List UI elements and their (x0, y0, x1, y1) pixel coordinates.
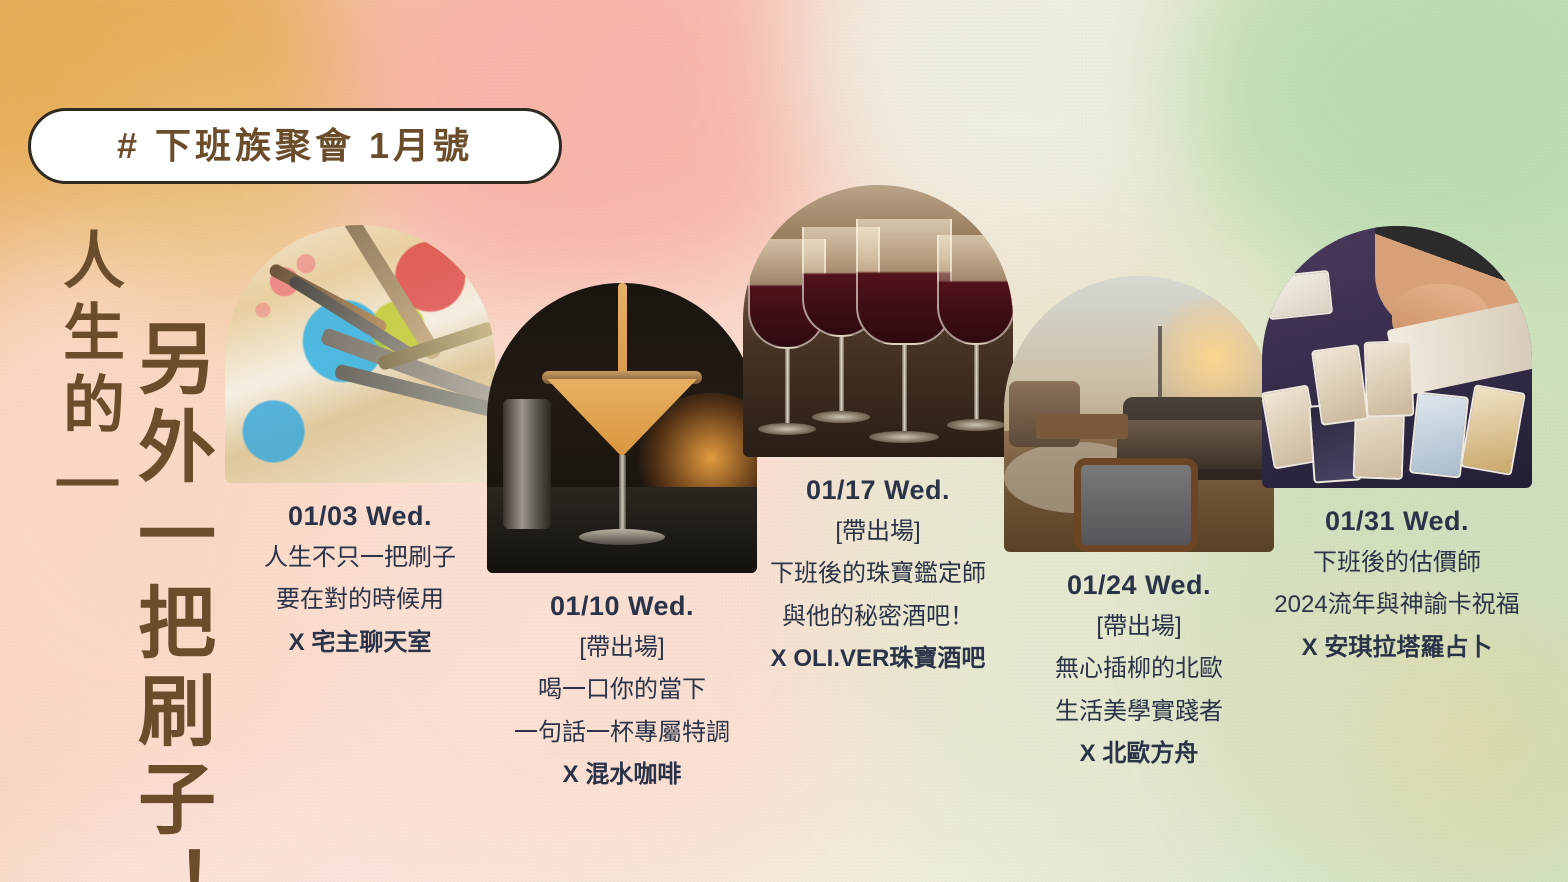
event-card-1[interactable]: 01/03 Wed. 人生不只一把刷子 要在對的時候用 X 宅主聊天室 (225, 225, 495, 659)
hashtag-badge-label: # 下班族聚會 1月號 (117, 128, 473, 164)
event-line: 與他的秘密酒吧！ (743, 601, 1013, 633)
event-date: 01/03 Wed. (225, 501, 495, 532)
event-line: 生活美學實踐者 (1004, 696, 1274, 728)
event-photo-paint-brushes (225, 225, 495, 483)
event-partner: X 混水咖啡 (487, 759, 757, 791)
event-partner: X 安琪拉塔羅占卜 (1262, 632, 1532, 664)
hashtag-badge: # 下班族聚會 1月號 (28, 108, 562, 184)
event-date: 01/24 Wed. (1004, 570, 1274, 601)
event-date: 01/10 Wed. (487, 591, 757, 622)
headline-column-left: 另外一把刷子！ (132, 318, 210, 882)
event-line: 下班後的估價師 (1262, 547, 1532, 579)
event-date: 01/31 Wed. (1262, 506, 1532, 537)
event-line: 2024流年與神諭卡祝福 (1262, 589, 1532, 621)
event-date: 01/17 Wed. (743, 475, 1013, 506)
event-photo-nordic-room (1004, 276, 1274, 552)
event-partner: X 北歐方舟 (1004, 738, 1274, 770)
event-line: 喝一口你的當下 (487, 674, 757, 706)
event-photo-wine-glasses (743, 185, 1013, 457)
event-card-3[interactable]: 01/17 Wed. [帶出場] 下班後的珠寶鑑定師 與他的秘密酒吧！ X OL… (743, 185, 1013, 676)
event-line: [帶出場] (743, 516, 1013, 548)
event-line: [帶出場] (1004, 611, 1274, 643)
event-partner: X 宅主聊天室 (225, 627, 495, 659)
event-line: 要在對的時候用 (225, 584, 495, 616)
headline-column-right: 人生的— (56, 228, 118, 523)
event-photo-tarot (1262, 226, 1532, 488)
event-card-5[interactable]: 01/31 Wed. 下班後的估價師 2024流年與神諭卡祝福 X 安琪拉塔羅占… (1262, 226, 1532, 664)
event-line: 人生不只一把刷子 (225, 542, 495, 574)
event-line: 無心插柳的北歐 (1004, 653, 1274, 685)
event-line: [帶出場] (487, 632, 757, 664)
event-line: 一句話一杯專屬特調 (487, 717, 757, 749)
event-partner: X OLI.VER珠寶酒吧 (743, 643, 1013, 675)
event-card-4[interactable]: 01/24 Wed. [帶出場] 無心插柳的北歐 生活美學實踐者 X 北歐方舟 (1004, 276, 1274, 771)
event-poster: # 下班族聚會 1月號 人生的— 另外一把刷子！ 01/03 Wed. 人生不只… (0, 0, 1568, 882)
event-card-2[interactable]: 01/10 Wed. [帶出場] 喝一口你的當下 一句話一杯專屬特調 X 混水咖… (487, 283, 757, 792)
event-photo-cocktail (487, 283, 757, 573)
event-line: 下班後的珠寶鑑定師 (743, 558, 1013, 590)
